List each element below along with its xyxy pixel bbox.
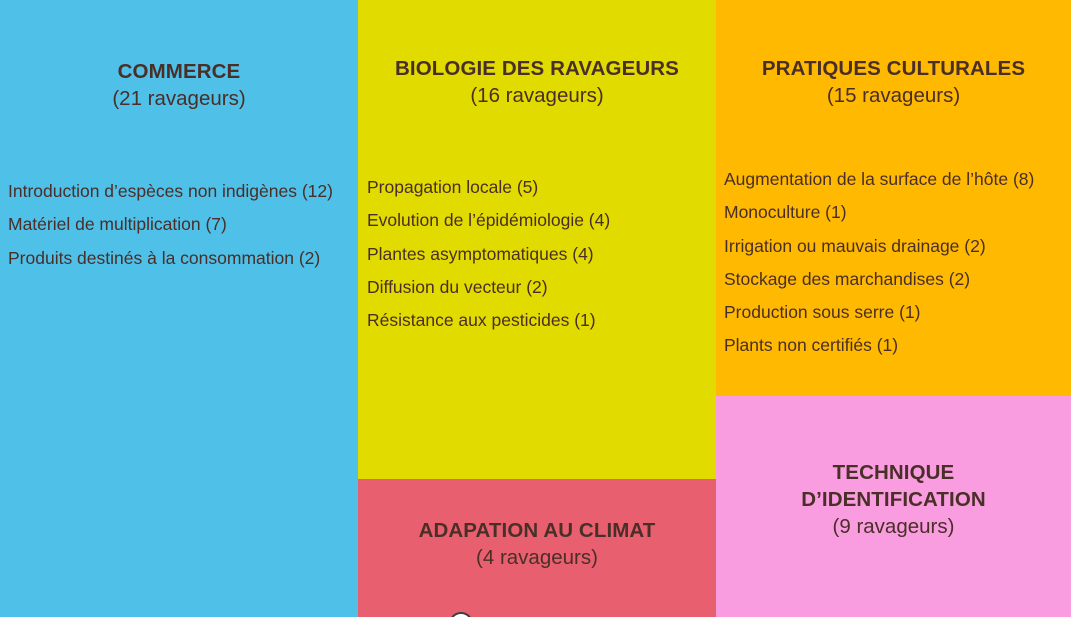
panel-pratiques-subheading: (15 ravageurs) [716,82,1071,109]
panel-technique-heading-line1: TECHNIQUE [716,459,1071,486]
panel-commerce: COMMERCE (21 ravageurs) Introduction d’e… [0,0,358,617]
list-item: Monoculture (1) [724,196,1071,229]
panel-climat-heading: ADAPATION AU CLIMAT [358,517,716,544]
list-item: Matériel de multiplication (7) [8,208,358,241]
panel-commerce-heading: COMMERCE [0,58,358,85]
panel-climat-subheading: (4 ravageurs) [358,544,716,571]
panel-technique-subheading: (9 ravageurs) [716,513,1071,540]
list-item: Propagation locale (5) [367,171,716,204]
treemap-board: COMMERCE (21 ravageurs) Introduction d’e… [0,0,1071,617]
panel-biologie-heading: BIOLOGIE DES RAVAGEURS [358,55,716,82]
list-item: Augmentation de la surface de l’hôte (8) [724,163,1071,196]
panel-commerce-subheading: (21 ravageurs) [0,85,358,112]
panel-commerce-list: Introduction d’espèces non indigènes (12… [0,175,358,275]
list-item: Irrigation ou mauvais drainage (2) [724,230,1071,263]
panel-biologie-list: Propagation locale (5) Evolution de l’ép… [358,171,716,337]
panel-pratiques-list: Augmentation de la surface de l’hôte (8)… [716,163,1071,363]
panel-biologie-subheading: (16 ravageurs) [358,82,716,109]
list-item: Production sous serre (1) [724,296,1071,329]
list-item: Introduction d’espèces non indigènes (12… [8,175,358,208]
list-item: Stockage des marchandises (2) [724,263,1071,296]
list-item: Diffusion du vecteur (2) [367,271,716,304]
panel-pratiques-culturales: PRATIQUES CULTURALES (15 ravageurs) Augm… [716,0,1071,396]
list-item: Plants non certifiés (1) [724,329,1071,362]
list-item: Plantes asymptomatiques (4) [367,238,716,271]
panel-technique-identification: TECHNIQUE D’IDENTIFICATION (9 ravageurs) [716,396,1071,617]
panel-technique-heading-line2: D’IDENTIFICATION [716,486,1071,513]
panel-pratiques-heading: PRATIQUES CULTURALES [716,55,1071,82]
panel-biologie-des-ravageurs: BIOLOGIE DES RAVAGEURS (16 ravageurs) Pr… [358,0,716,479]
list-item: Produits destinés à la consommation (2) [8,242,358,275]
list-item: Evolution de l’épidémiologie (4) [367,204,716,237]
panel-adapation-au-climat: ADAPATION AU CLIMAT (4 ravageurs) [358,479,716,617]
list-item: Résistance aux pesticides (1) [367,304,716,337]
circle-marker-icon [449,612,473,617]
